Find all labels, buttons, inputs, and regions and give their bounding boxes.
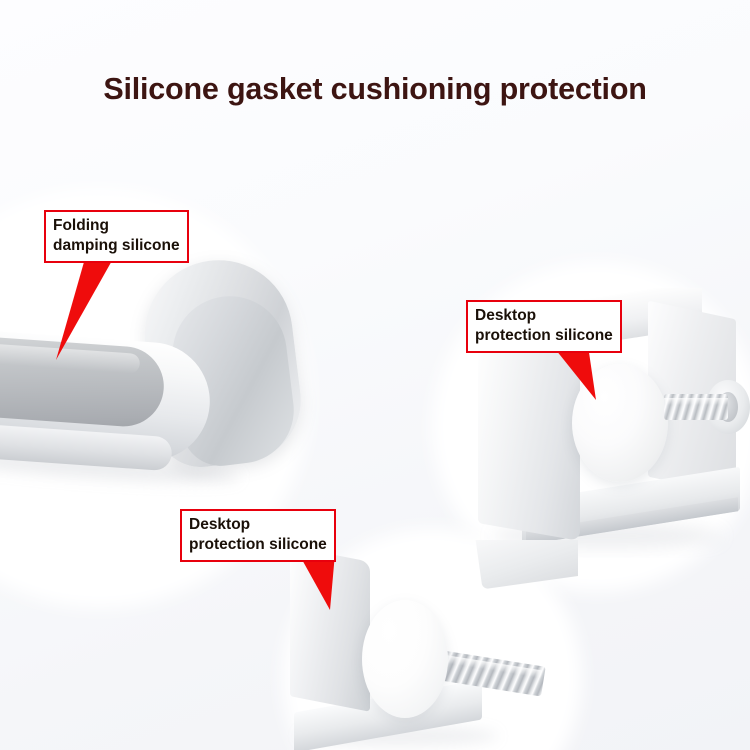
- clamp-screw-highlight: [664, 398, 728, 405]
- product-feature-banner: Silicone gasket cushioning protection: [0, 0, 750, 750]
- callout-line-2: damping silicone: [53, 236, 180, 256]
- bracket-background-part: [474, 540, 578, 589]
- callout-line-1: Desktop: [475, 306, 613, 326]
- callout-line-2: protection silicone: [189, 535, 327, 555]
- callout-desktop-protection-silicone-bottom: Desktop protection silicone: [180, 509, 336, 562]
- callout-desktop-protection-silicone-right: Desktop protection silicone: [466, 300, 622, 353]
- callout-arrow-folding: [20, 248, 140, 378]
- callout-line-1: Folding: [53, 216, 180, 236]
- page-title: Silicone gasket cushioning protection: [0, 72, 750, 107]
- callout-line-2: protection silicone: [475, 326, 613, 346]
- callout-folding-damping-silicone: Folding damping silicone: [44, 210, 189, 263]
- callout-line-1: Desktop: [189, 515, 327, 535]
